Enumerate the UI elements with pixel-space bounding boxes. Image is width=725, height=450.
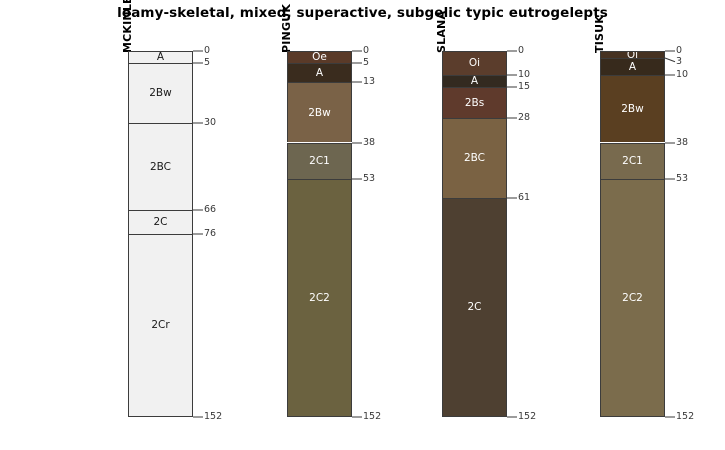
horizon-label: 2Bw (621, 104, 643, 115)
horizon-slana-2bc: 2BC (442, 118, 507, 197)
horizon-label: 2C1 (309, 156, 330, 167)
horizon-mckinley-2cr: 2Cr (128, 234, 193, 417)
depth-tick-label: 61 (518, 193, 530, 203)
depth-tick-label: 152 (363, 412, 381, 422)
horizon-label: 2C (467, 302, 481, 313)
site-label-mckinley: MCKINLEY (121, 0, 134, 53)
site-label-pinguk: PINGUK (280, 4, 293, 53)
depth-tick-label: 53 (363, 174, 375, 184)
depth-tick-label: 152 (676, 412, 694, 422)
horizon-label: 2Cr (151, 320, 169, 331)
depth-tick-label: 3 (676, 57, 682, 67)
depth-tick-label: 0 (518, 46, 524, 56)
horizon-label: 2Bs (465, 98, 484, 109)
horizon-pinguk-oe: Oe (287, 51, 352, 63)
depth-tick-label: 13 (363, 77, 375, 87)
horizon-tisuk-2c1: 2C1 (600, 143, 665, 179)
horizon-label: Oe (312, 52, 327, 63)
depth-tick-label: 0 (204, 46, 210, 56)
horizon-label: 2Bw (149, 88, 171, 99)
page-title: loamy-skeletal, mixed, superactive, subg… (0, 5, 725, 21)
horizon-mckinley-a: A (128, 51, 193, 63)
horizon-label: A (629, 62, 636, 73)
horizon-label: Oi (469, 58, 480, 69)
depth-tick-label: 38 (676, 138, 688, 148)
horizon-label: 2BC (464, 153, 485, 164)
depth-tick-label: 152 (204, 412, 222, 422)
horizon-pinguk-2c1: 2C1 (287, 143, 352, 179)
depth-tick-label: 0 (363, 46, 369, 56)
horizon-pinguk-2c2: 2C2 (287, 179, 352, 417)
depth-tick-label: 152 (518, 412, 536, 422)
horizon-label: 2Bw (308, 108, 330, 119)
horizon-slana-a: A (442, 75, 507, 87)
depth-tick-label: 5 (204, 58, 210, 68)
horizon-label: A (471, 76, 478, 87)
horizon-label: 2C2 (622, 293, 643, 304)
horizon-slana-2bs: 2Bs (442, 87, 507, 118)
depth-tick-label: 28 (518, 113, 530, 123)
horizon-label: 2C2 (309, 293, 330, 304)
horizon-label: 2C1 (622, 156, 643, 167)
horizon-pinguk-a: A (287, 63, 352, 82)
horizon-mckinley-2bw: 2Bw (128, 63, 193, 123)
horizon-tisuk-a: A (600, 58, 665, 75)
horizon-tisuk-2c2: 2C2 (600, 179, 665, 417)
horizon-tisuk-oi: Oi (600, 51, 665, 58)
depth-tick-label: 66 (204, 205, 216, 215)
horizon-label: 2BC (150, 162, 171, 173)
horizon-label: 2C (153, 217, 167, 228)
horizon-slana-oi: Oi (442, 51, 507, 75)
depth-tick-label: 5 (363, 58, 369, 68)
horizon-slana-2c: 2C (442, 198, 507, 417)
depth-tick-label: 30 (204, 118, 216, 128)
depth-tick-label: 10 (518, 70, 530, 80)
site-label-tisuk: TISUK (593, 15, 606, 53)
horizon-tisuk-2bw: 2Bw (600, 75, 665, 142)
horizon-mckinley-2c: 2C (128, 210, 193, 234)
horizon-label: Oi (627, 51, 638, 58)
depth-tick-label: 38 (363, 138, 375, 148)
site-label-slana: SLANA (435, 11, 448, 53)
depth-tick-label: 76 (204, 229, 216, 239)
depth-tick-label: 15 (518, 82, 530, 92)
horizon-label: A (157, 52, 164, 63)
depth-tick-label: 53 (676, 174, 688, 184)
horizon-pinguk-2bw: 2Bw (287, 82, 352, 142)
depth-tick-label: 10 (676, 70, 688, 80)
horizon-mckinley-2bc: 2BC (128, 123, 193, 210)
horizon-label: A (316, 68, 323, 79)
